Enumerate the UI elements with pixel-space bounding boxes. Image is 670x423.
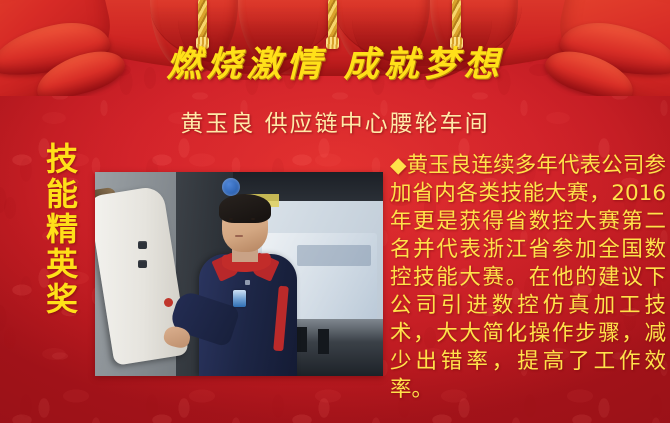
gold-tassel-icon: [198, 0, 207, 40]
gold-tassel-icon: [328, 0, 337, 40]
award-description-text: ◆黄玉良连续多年代表公司参加省内各类技能大赛，2016年更是获得省数控大赛第二名…: [390, 152, 666, 403]
award-poster: 燃烧激情 成就梦想 黄玉良 供应链中心腰轮车间 技能精英奖: [0, 0, 670, 423]
control-panel-button: [138, 241, 147, 249]
machine-window-reflection: [297, 245, 372, 265]
subtitle-name-department: 黄玉良 供应链中心腰轮车间: [0, 104, 670, 138]
page-title: 燃烧激情 成就梦想: [0, 36, 670, 87]
worker-hair: [219, 194, 271, 223]
blue-round-badge-icon: [222, 178, 240, 196]
gold-tassel-icon: [452, 0, 461, 40]
award-category-label: 技能精英奖: [38, 142, 78, 317]
worker-mouth: [235, 235, 243, 237]
worker-pocket-detail: [245, 280, 250, 285]
blue-id-card-icon: [233, 290, 246, 307]
control-panel-button: [138, 260, 147, 268]
worker-photo: [95, 172, 383, 376]
